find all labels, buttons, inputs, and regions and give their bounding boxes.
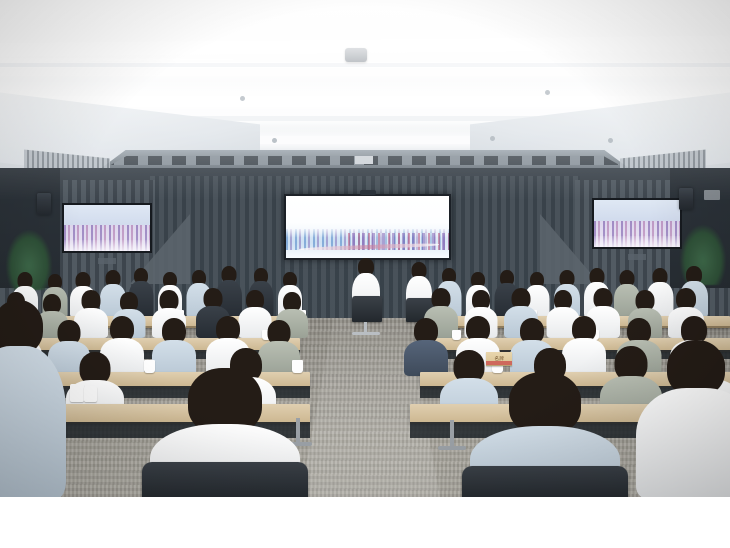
ceiling-downlight-icon	[272, 138, 277, 143]
wall-sign	[704, 190, 720, 200]
wall-speaker-icon	[37, 193, 51, 215]
main-display-foreground	[286, 250, 449, 258]
left-display-foreground	[64, 240, 150, 251]
mesh-office-chair	[462, 466, 628, 497]
right-display-foreground	[594, 236, 680, 247]
right-display-mount	[628, 254, 646, 260]
ceiling-speaker-icon	[345, 48, 367, 62]
water-cup	[70, 384, 84, 402]
mesh-office-chair	[352, 296, 382, 322]
water-cup	[84, 386, 97, 402]
wall-speaker-icon	[679, 188, 693, 210]
chair-post	[450, 420, 454, 448]
ceiling	[0, 0, 730, 172]
foreground-attendee-left	[0, 300, 66, 497]
ceiling-downlight-icon	[490, 136, 495, 141]
conference-room-photo: 名牌	[0, 0, 730, 497]
projector-mount	[355, 156, 373, 164]
ceiling-light-strip	[0, 63, 730, 67]
ceiling-sensor-icon	[240, 96, 245, 101]
left-display-mount	[98, 258, 116, 264]
video-camera-icon	[360, 190, 376, 195]
main-led-video-wall	[284, 194, 451, 260]
left-side-display	[62, 203, 152, 253]
right-side-display	[592, 198, 682, 249]
mesh-office-chair	[142, 462, 308, 497]
chair-base	[438, 446, 466, 450]
chair-base	[352, 332, 380, 335]
ceiling-sensor-icon	[545, 90, 550, 95]
bottom-letterbox	[0, 497, 730, 548]
ceiling-downlight-icon	[608, 138, 613, 143]
foreground-attendee-far-right	[636, 340, 730, 497]
